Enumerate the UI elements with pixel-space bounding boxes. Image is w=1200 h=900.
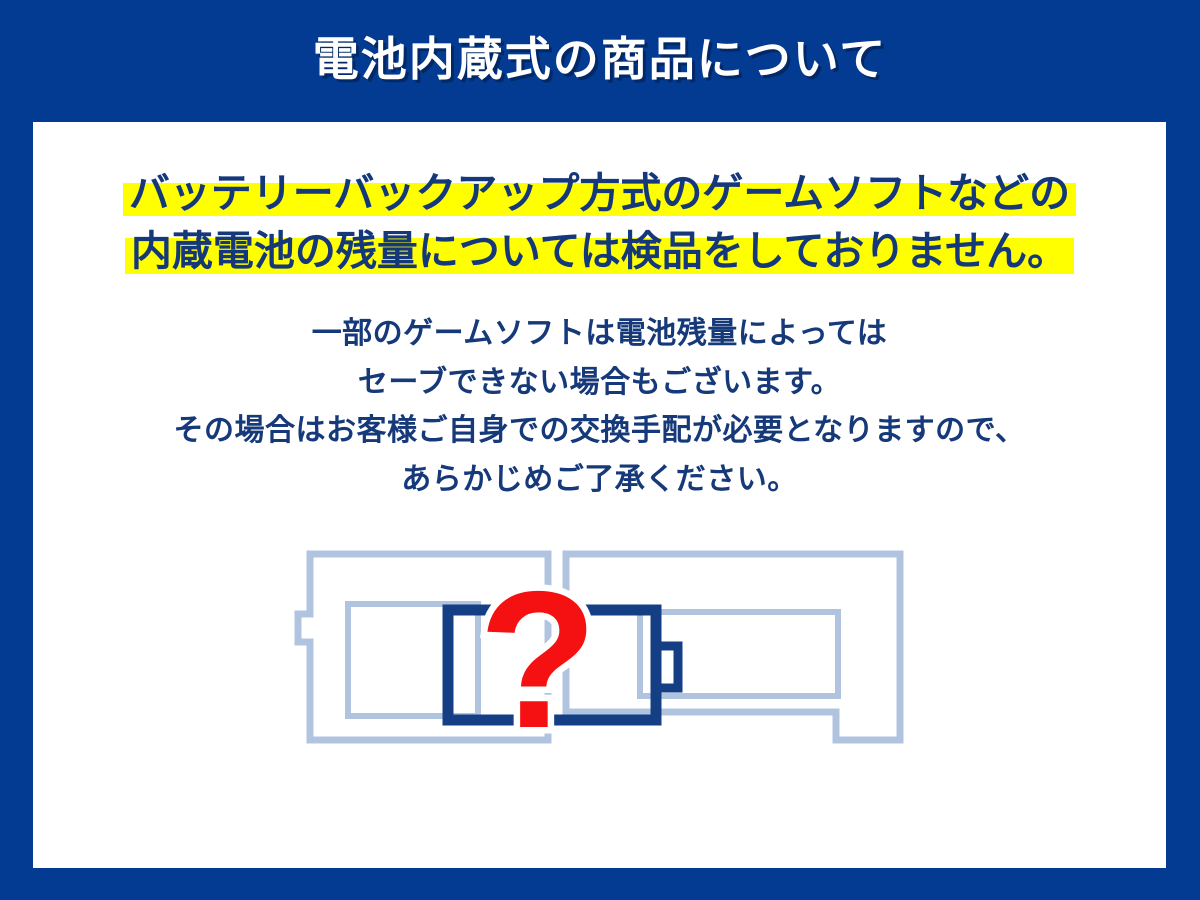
game-cartridge-right-icon <box>566 554 900 740</box>
question-mark-glyph: ? <box>478 551 597 769</box>
content-panel: バッテリーバックアップ方式のゲームソフトなどの 内蔵電池の残量については検品をし… <box>33 122 1166 868</box>
headline-block: バッテリーバックアップ方式のゲームソフトなどの 内蔵電池の残量については検品をし… <box>33 164 1166 280</box>
body-paragraph: 一部のゲームソフトは電池残量によっては セーブできない場合もございます。 その場… <box>33 310 1166 504</box>
headline-line-1-text: バッテリーバックアップ方式のゲームソフトなどの <box>123 170 1076 216</box>
body-line-4: あらかじめご了承ください。 <box>33 456 1166 505</box>
slide-root: 電池内蔵式の商品について バッテリーバックアップ方式のゲームソフトなどの 内蔵電… <box>0 0 1200 900</box>
body-line-1: 一部のゲームソフトは電池残量によっては <box>33 310 1166 359</box>
headline-line-2: 内蔵電池の残量については検品をしておりません。 <box>33 222 1166 280</box>
body-line-2: セーブできない場合もございます。 <box>33 359 1166 408</box>
headline-line-2-text: 内蔵電池の残量については検品をしておりません。 <box>125 228 1074 274</box>
page-title: 電池内蔵式の商品について <box>313 36 888 82</box>
illustration-block: ? <box>33 542 1166 842</box>
header-bar: 電池内蔵式の商品について <box>0 0 1200 122</box>
battery-cartridge-illustration: ? <box>270 542 930 802</box>
headline-line-1: バッテリーバックアップ方式のゲームソフトなどの <box>33 164 1166 222</box>
question-mark-icon: ? <box>478 551 597 769</box>
body-line-3: その場合はお客様ご自身での交換手配が必要となりますので、 <box>33 407 1166 456</box>
